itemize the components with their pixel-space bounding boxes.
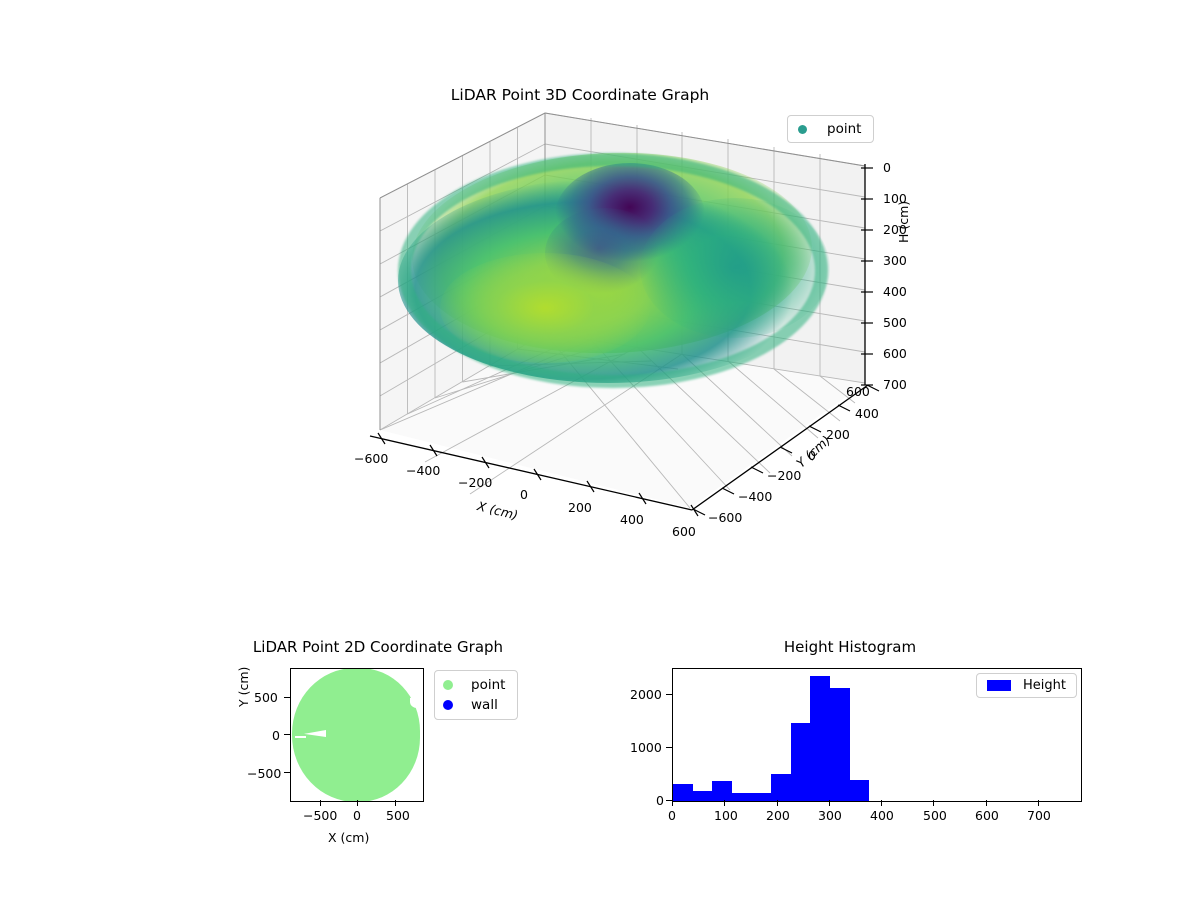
legend-entry-point[interactable]: point — [443, 675, 505, 695]
y2-tick-mark-0 — [284, 697, 290, 698]
height-histogram-chart: Height Histogram Height 0 1000 2000 0 10… — [620, 638, 1120, 868]
yh-tick-mark-2 — [666, 694, 672, 695]
x2-tick-mark-1 — [357, 800, 358, 806]
xh-tick-0: 0 — [668, 808, 676, 823]
histogram-bar — [732, 793, 752, 801]
xh-tick-mark-2 — [777, 800, 778, 806]
plot-area-2d — [290, 668, 424, 802]
axes3d-frame — [340, 78, 960, 618]
x3-tick-4: 200 — [568, 500, 592, 515]
z3-tick-4: 400 — [883, 284, 907, 299]
y3-tick-5: 400 — [855, 406, 879, 421]
legend-marker-wall-icon — [443, 700, 453, 710]
yh-tick-0: 0 — [656, 793, 664, 808]
y2-tick-mark-1 — [284, 734, 290, 735]
x3-tick-0: −600 — [354, 451, 388, 466]
x2-tick-2: 500 — [386, 808, 410, 823]
legend-marker-point-icon — [443, 680, 453, 690]
z3-tick-6: 600 — [883, 346, 907, 361]
xh-tick-mark-3 — [829, 800, 830, 806]
z3-tick-5: 500 — [883, 315, 907, 330]
x3-tick-2: −200 — [458, 475, 492, 490]
chart-title-2d: LiDAR Point 2D Coordinate Graph — [208, 638, 548, 656]
y2-tick-mark-2 — [284, 772, 290, 773]
xh-tick-mark-0 — [672, 800, 673, 806]
legend-histogram[interactable]: Height — [976, 673, 1077, 698]
y3-tick-1: −400 — [738, 489, 772, 504]
legend-label-wall: wall — [471, 697, 498, 713]
xh-tick-mark-6 — [986, 800, 987, 806]
yh-tick-mark-1 — [666, 747, 672, 748]
x3-tick-3: 0 — [520, 487, 528, 502]
x3-tick-6: 600 — [672, 524, 696, 539]
legend-2d[interactable]: point wall — [434, 670, 518, 720]
x3-tick-5: 400 — [620, 512, 644, 527]
lidar-3d-chart: LiDAR Point 3D Coordinate Graph point — [340, 78, 960, 618]
histogram-bar — [791, 723, 811, 801]
z3-axis-label: H (cm) — [896, 201, 911, 243]
xh-tick-mark-4 — [881, 800, 882, 806]
xh-tick-5: 500 — [923, 808, 947, 823]
y2-axis-label: Y (cm) — [236, 667, 251, 707]
xh-tick-2: 200 — [766, 808, 790, 823]
yh-tick-2: 2000 — [630, 687, 662, 702]
legend-label-height: Height — [1023, 678, 1066, 693]
legend-label-point: point — [471, 677, 505, 693]
histogram-bar — [693, 791, 713, 801]
y3-tick-6: 600 — [846, 384, 870, 399]
xh-tick-mark-5 — [933, 800, 934, 806]
xh-tick-mark-1 — [724, 800, 725, 806]
x2-axis-label: X (cm) — [328, 830, 369, 845]
y3-tick-0: −600 — [708, 510, 742, 525]
z3-tick-0: 0 — [883, 160, 891, 175]
yh-tick-1: 1000 — [630, 740, 662, 755]
xh-tick-mark-7 — [1038, 800, 1039, 806]
xh-tick-1: 100 — [714, 808, 738, 823]
x2-tick-1: 0 — [353, 808, 361, 823]
histogram-bar — [751, 793, 771, 801]
y2-tick-1: 0 — [272, 728, 280, 743]
legend-swatch-height-icon — [987, 680, 1011, 691]
plot-area-histogram: Height — [672, 668, 1082, 802]
xh-tick-4: 400 — [870, 808, 894, 823]
xh-tick-6: 600 — [975, 808, 999, 823]
y3-tick-2: −200 — [767, 468, 801, 483]
histogram-bar — [771, 774, 791, 801]
x3-tick-1: −400 — [406, 463, 440, 478]
xh-tick-3: 300 — [818, 808, 842, 823]
histogram-bar — [810, 676, 830, 801]
y2-tick-0: 500 — [254, 690, 278, 705]
histogram-bar — [850, 780, 870, 801]
z3-tick-3: 300 — [883, 253, 907, 268]
chart-title-histogram: Height Histogram — [620, 638, 1080, 656]
x2-tick-mark-2 — [395, 800, 396, 806]
histogram-bar — [830, 688, 850, 801]
legend-entry-wall[interactable]: wall — [443, 695, 505, 715]
xh-tick-7: 700 — [1027, 808, 1051, 823]
histogram-bar — [673, 784, 693, 801]
x2-tick-mark-0 — [320, 800, 321, 806]
lidar-2d-chart: LiDAR Point 2D Coordinate Graph 500 0 −5… — [150, 638, 570, 868]
point-cloud-2d — [292, 668, 420, 802]
x2-tick-0: −500 — [303, 808, 337, 823]
z3-tick-7: 700 — [883, 377, 907, 392]
histogram-bar — [712, 781, 732, 801]
y2-tick-2: −500 — [247, 766, 281, 781]
